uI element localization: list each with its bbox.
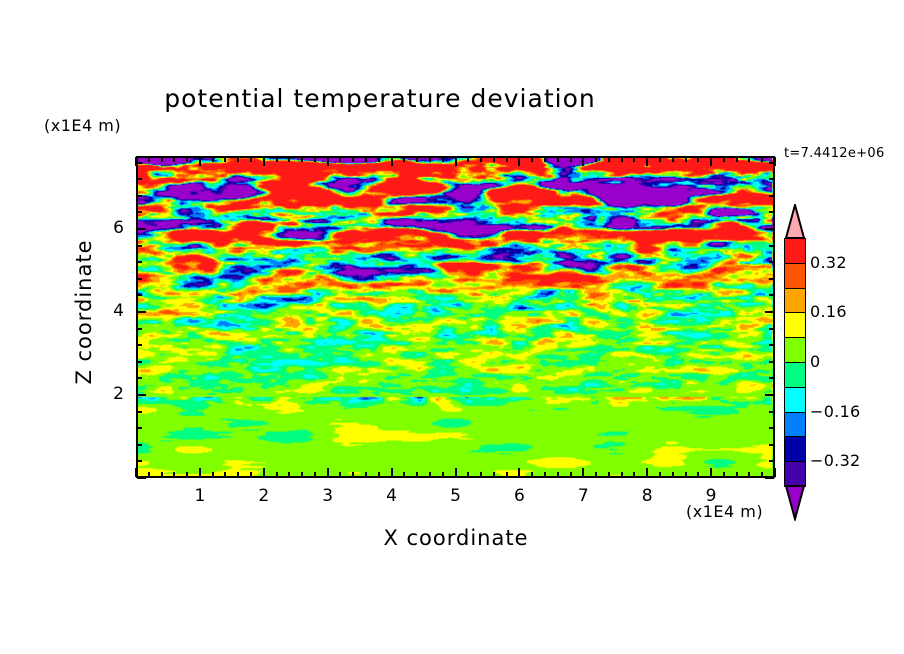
x-tick-bottom [723, 472, 725, 477]
x-axis-title: X coordinate [256, 526, 656, 550]
y-tick-left [137, 427, 142, 429]
x-tick-bottom [148, 472, 150, 477]
y-tick-right [769, 411, 774, 413]
y-tick-left [137, 245, 142, 247]
colorbar-band [784, 387, 806, 413]
y-tick-right [769, 195, 774, 197]
colorbar-tick-label: −0.16 [810, 402, 861, 421]
x-tick-label: 3 [308, 486, 348, 506]
colorbar-band [784, 312, 806, 338]
x-tick-top [237, 157, 239, 162]
x-tick-top [365, 157, 367, 162]
x-tick-bottom [621, 472, 623, 477]
x-tick-bottom [276, 472, 278, 477]
y-tick-left [137, 477, 146, 479]
y-axis-title: Z coordinate [72, 212, 96, 412]
x-tick-bottom [493, 472, 495, 477]
x-tick-top [493, 157, 495, 162]
x-tick-bottom [467, 472, 469, 477]
y-tick-left [137, 278, 142, 280]
x-tick-top [480, 157, 482, 162]
x-tick-bottom [327, 468, 329, 477]
x-tick-top [736, 157, 738, 162]
x-tick-top [199, 157, 201, 166]
x-tick-bottom [288, 472, 290, 477]
y-tick-left [137, 311, 146, 313]
x-tick-bottom [506, 472, 508, 477]
x-tick-top [518, 157, 520, 166]
x-tick-top [748, 157, 750, 162]
x-tick-bottom [518, 468, 520, 477]
x-tick-top [173, 157, 175, 162]
x-tick-bottom [531, 472, 533, 477]
x-tick-bottom [403, 472, 405, 477]
y-tick-right [769, 294, 774, 296]
x-tick-bottom [352, 472, 354, 477]
y-tick-right [765, 228, 774, 230]
x-tick-bottom [391, 468, 393, 477]
y-tick-left [137, 460, 142, 462]
figure-canvas: potential temperature deviation (x1E4 m)… [0, 0, 904, 654]
x-tick-top [429, 157, 431, 162]
x-tick-top [186, 157, 188, 162]
x-tick-top [391, 157, 393, 166]
x-tick-top [301, 157, 303, 162]
x-tick-bottom [646, 468, 648, 477]
x-tick-top [212, 157, 214, 162]
y-tick-left [137, 377, 142, 379]
x-tick-label: 8 [627, 486, 667, 506]
x-tick-bottom [608, 472, 610, 477]
y-tick-right [769, 211, 774, 213]
x-tick-top [582, 157, 584, 166]
x-tick-top [378, 157, 380, 162]
x-tick-bottom [378, 472, 380, 477]
y-tick-left [137, 162, 142, 164]
y-tick-left [137, 261, 142, 263]
colorbar-band [784, 263, 806, 289]
y-tick-left [137, 444, 142, 446]
x-tick-top [339, 157, 341, 162]
x-tick-top [659, 157, 661, 162]
x-tick-top [774, 157, 776, 166]
x-tick-top [570, 157, 572, 162]
x-tick-top [327, 157, 329, 166]
colorbar-band [784, 436, 806, 462]
y-tick-left [137, 344, 142, 346]
x-tick-top [761, 157, 763, 162]
x-tick-top [531, 157, 533, 162]
x-tick-top [352, 157, 354, 162]
x-tick-bottom [685, 472, 687, 477]
y-tick-right [769, 377, 774, 379]
y-tick-left [137, 328, 142, 330]
y-tick-right [769, 178, 774, 180]
plot-area [136, 156, 775, 478]
x-tick-bottom [748, 472, 750, 477]
colorbar-band [784, 238, 806, 264]
y-tick-right [769, 328, 774, 330]
x-tick-top [403, 157, 405, 162]
y-tick-right [765, 477, 774, 479]
colorbar-tick-label: 0.16 [810, 302, 847, 321]
colorbar-band [784, 362, 806, 388]
colorbar-tick-label: 0.32 [810, 253, 847, 272]
x-tick-bottom [710, 468, 712, 477]
x-tick-bottom [595, 472, 597, 477]
x-tick-label: 1 [180, 486, 220, 506]
y-tick-left [137, 228, 146, 230]
y-tick-right [769, 278, 774, 280]
colorbar-under-arrow [784, 485, 806, 521]
colorbar-tick-label: −0.32 [810, 451, 861, 470]
x-tick-top [595, 157, 597, 162]
x-tick-bottom [263, 468, 265, 477]
x-tick-bottom [237, 472, 239, 477]
x-tick-bottom [301, 472, 303, 477]
x-tick-bottom [339, 472, 341, 477]
x-tick-top [148, 157, 150, 162]
y-tick-right [769, 427, 774, 429]
colorbar-band [784, 412, 806, 438]
x-tick-top [263, 157, 265, 166]
x-tick-top [685, 157, 687, 162]
x-tick-bottom [250, 472, 252, 477]
colorbar-band [784, 337, 806, 363]
y-tick-left [137, 294, 142, 296]
x-tick-bottom [416, 472, 418, 477]
x-tick-bottom [224, 472, 226, 477]
x-tick-bottom [557, 472, 559, 477]
x-tick-top [161, 157, 163, 162]
x-tick-bottom [633, 472, 635, 477]
x-tick-top [288, 157, 290, 162]
x-tick-top [723, 157, 725, 162]
x-tick-top [557, 157, 559, 162]
y-tick-left [137, 211, 142, 213]
page-title: potential temperature deviation [0, 84, 760, 113]
y-tick-left [137, 394, 146, 396]
y-tick-right [769, 245, 774, 247]
x-tick-bottom [736, 472, 738, 477]
y-tick-right [765, 311, 774, 313]
x-tick-bottom [135, 468, 137, 477]
timestamp-annotation: t=7.4412e+06 [784, 146, 885, 161]
x-tick-top [455, 157, 457, 166]
colorbar-band [784, 288, 806, 314]
x-axis-unit-label: (x1E4 m) [686, 502, 763, 521]
x-tick-bottom [659, 472, 661, 477]
x-tick-bottom [173, 472, 175, 477]
x-tick-top [314, 157, 316, 162]
x-tick-bottom [161, 472, 163, 477]
x-tick-bottom [774, 468, 776, 477]
x-tick-bottom [480, 472, 482, 477]
contour-field [138, 158, 773, 476]
y-tick-left [137, 195, 142, 197]
x-tick-top [621, 157, 623, 162]
x-tick-label: 2 [244, 486, 284, 506]
x-tick-bottom [365, 472, 367, 477]
x-tick-bottom [186, 472, 188, 477]
x-tick-label: 7 [563, 486, 603, 506]
x-tick-bottom [570, 472, 572, 477]
y-tick-right [769, 261, 774, 263]
x-tick-bottom [672, 472, 674, 477]
y-tick-right [769, 361, 774, 363]
y-tick-right [769, 460, 774, 462]
x-tick-top [646, 157, 648, 166]
y-tick-right [769, 444, 774, 446]
x-tick-bottom [544, 472, 546, 477]
colorbar-band [784, 461, 806, 487]
x-tick-top [250, 157, 252, 162]
y-axis-unit-label: (x1E4 m) [44, 116, 121, 135]
x-tick-top [544, 157, 546, 162]
y-tick-left [137, 411, 142, 413]
x-tick-bottom [442, 472, 444, 477]
x-tick-top [633, 157, 635, 162]
colorbar-over-arrow [784, 204, 806, 240]
x-tick-label: 5 [436, 486, 476, 506]
x-tick-top [608, 157, 610, 162]
x-tick-top [672, 157, 674, 162]
y-tick-right [769, 344, 774, 346]
colorbar-tick-label: 0 [810, 352, 820, 371]
y-tick-left [137, 178, 142, 180]
x-tick-bottom [212, 472, 214, 477]
x-tick-top [506, 157, 508, 162]
x-tick-top [224, 157, 226, 162]
x-tick-bottom [199, 468, 201, 477]
x-tick-top [710, 157, 712, 166]
y-tick-left [137, 361, 142, 363]
x-tick-bottom [455, 468, 457, 477]
x-tick-bottom [314, 472, 316, 477]
x-tick-top [467, 157, 469, 162]
x-tick-bottom [761, 472, 763, 477]
x-tick-label: 6 [499, 486, 539, 506]
x-tick-label: 4 [372, 486, 412, 506]
x-tick-top [697, 157, 699, 162]
colorbar: 0.320.160−0.16−0.32 [784, 204, 806, 520]
x-tick-top [416, 157, 418, 162]
x-tick-top [276, 157, 278, 162]
y-tick-right [769, 162, 774, 164]
x-tick-bottom [429, 472, 431, 477]
y-tick-right [765, 394, 774, 396]
x-tick-bottom [582, 468, 584, 477]
x-tick-bottom [697, 472, 699, 477]
x-tick-top [442, 157, 444, 162]
